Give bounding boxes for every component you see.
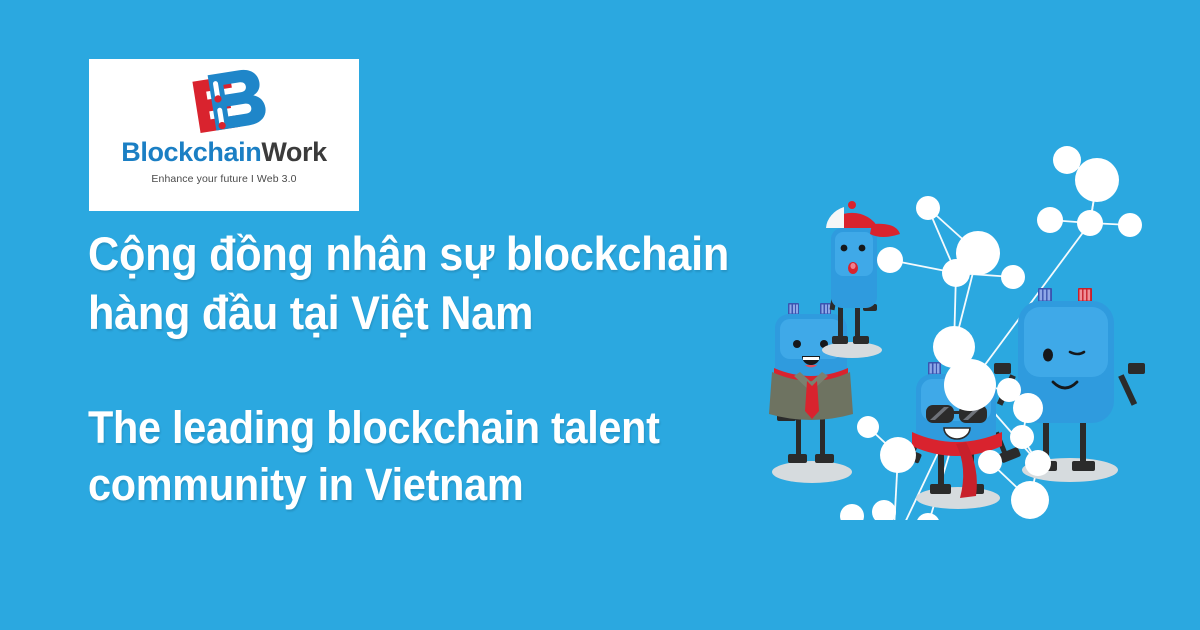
network-node: [1077, 210, 1103, 236]
network-node: [1001, 265, 1025, 289]
logo-card: BlockchainWork Enhance your future I Web…: [89, 59, 359, 211]
network-node: [1037, 207, 1063, 233]
logo-wordmark: BlockchainWork: [121, 139, 326, 166]
logo-wordmark-secondary: Work: [261, 137, 326, 167]
network-node: [1075, 158, 1119, 202]
network-node: [1118, 213, 1142, 237]
social-banner: BlockchainWork Enhance your future I Web…: [0, 0, 1200, 630]
network-node: [916, 196, 940, 220]
network-node: [942, 259, 970, 287]
headline-english-line1: The leading blockchain talent: [88, 400, 660, 457]
headline-vietnamese-line2: hàng đầu tại Việt Nam: [88, 283, 729, 342]
network-node: [944, 359, 996, 411]
network-node: [880, 437, 916, 473]
network-node: [872, 500, 896, 520]
network-node: [1053, 146, 1081, 174]
network-node: [1025, 450, 1051, 476]
network-node: [1010, 425, 1034, 449]
blockchain-network-illustration: [760, 120, 1200, 520]
logo-tagline: Enhance your future I Web 3.0: [151, 173, 296, 185]
network-node: [877, 247, 903, 273]
logo-wordmark-primary: Blockchain: [121, 137, 261, 167]
headline-english-line2: community in Vietnam: [88, 457, 660, 514]
network-node: [840, 504, 864, 520]
network-node: [857, 416, 879, 438]
blockchainwork-logo-mark: [172, 67, 276, 137]
network-node: [1011, 481, 1049, 519]
network-node: [978, 450, 1002, 474]
network-node: [916, 513, 940, 520]
headline-english: The leading blockchain talent community …: [88, 400, 660, 513]
network-node: [1013, 393, 1043, 423]
headline-vietnamese-line1: Cộng đồng nhân sự blockchain: [88, 224, 729, 283]
headline-vietnamese: Cộng đồng nhân sự blockchain hàng đầu tạ…: [88, 224, 729, 342]
